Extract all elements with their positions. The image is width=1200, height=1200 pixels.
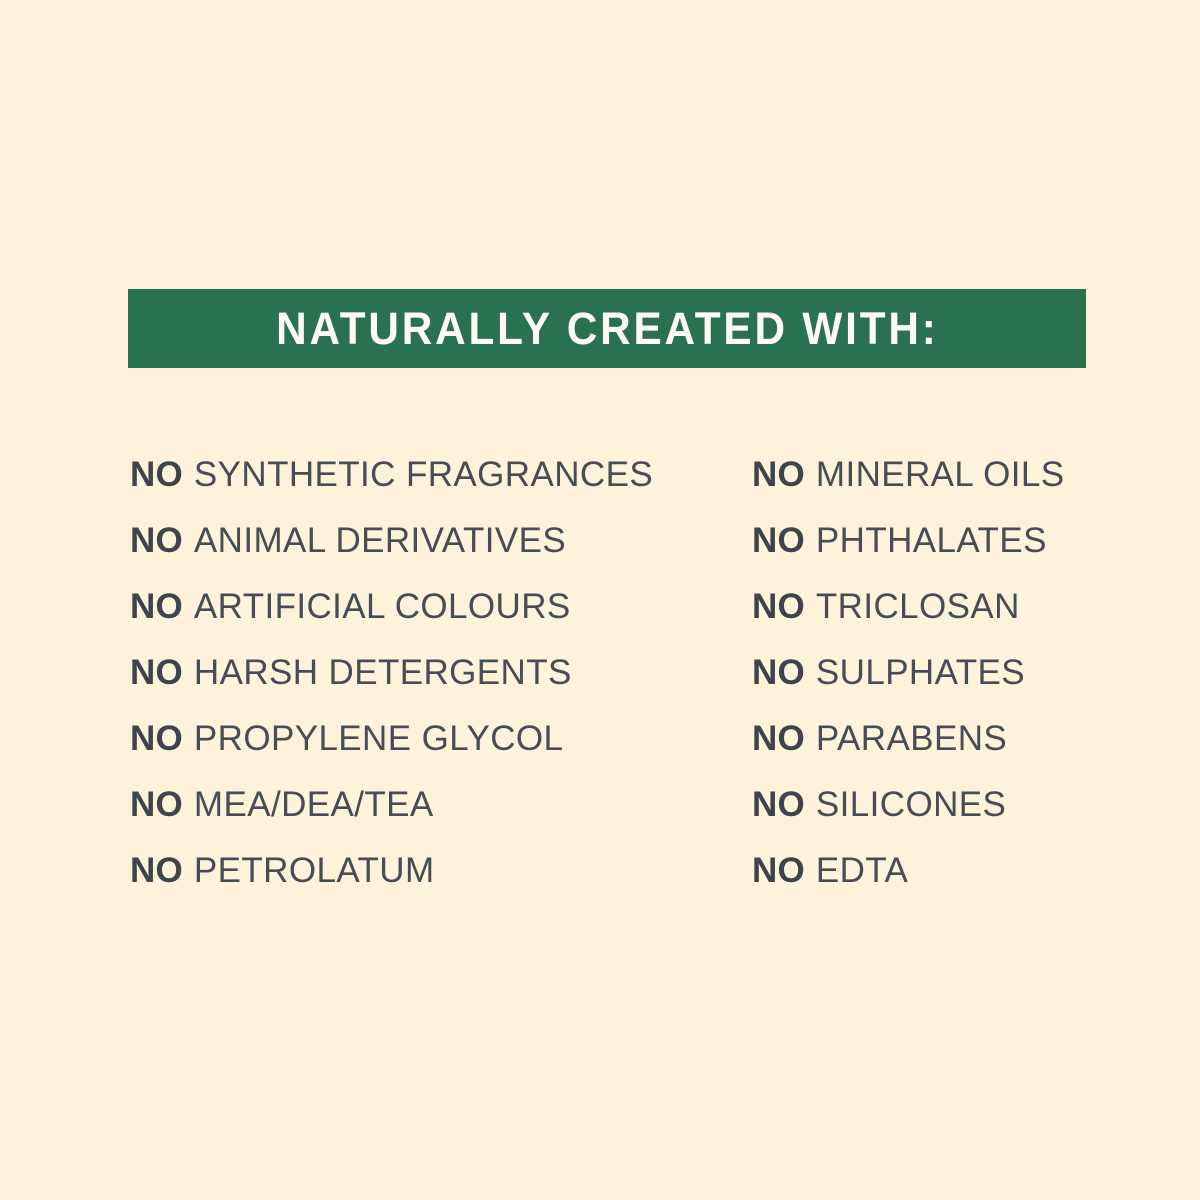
ingredient-label: SULPHATES [816, 655, 1025, 690]
no-prefix: NO [130, 787, 183, 822]
no-prefix: NO [752, 853, 805, 888]
no-prefix: NO [752, 457, 805, 492]
ingredient-label: ANIMAL DERIVATIVES [194, 523, 566, 558]
ingredient-label: EDTA [816, 853, 908, 888]
list-item: NO TRICLOSAN [752, 573, 1182, 639]
ingredient-label: ARTIFICIAL COLOURS [194, 589, 571, 624]
list-item: NO PROPYLENE GLYCOL [130, 705, 730, 771]
list-item: NO HARSH DETERGENTS [130, 639, 730, 705]
list-item: NO MINERAL OILS [752, 441, 1182, 507]
list-item: NO MEA/DEA/TEA [130, 771, 730, 837]
no-prefix: NO [752, 655, 805, 690]
ingredient-label: SYNTHETIC FRAGRANCES [194, 457, 653, 492]
poster-canvas: NATURALLY CREATED WITH: NO SYNTHETIC FRA… [0, 0, 1200, 1200]
ingredient-label: MINERAL OILS [816, 457, 1065, 492]
no-prefix: NO [130, 523, 183, 558]
ingredient-label: TRICLOSAN [816, 589, 1020, 624]
ingredient-label: SILICONES [816, 787, 1006, 822]
list-item: NO SILICONES [752, 771, 1182, 837]
ingredient-label: PETROLATUM [194, 853, 435, 888]
no-prefix: NO [130, 721, 183, 756]
no-prefix: NO [752, 787, 805, 822]
exclusion-list-left-column: NO SYNTHETIC FRAGRANCES NO ANIMAL DERIVA… [130, 441, 730, 903]
list-item: NO PHTHALATES [752, 507, 1182, 573]
exclusion-list-right-column: NO MINERAL OILS NO PHTHALATES NO TRICLOS… [752, 441, 1182, 903]
header-banner: NATURALLY CREATED WITH: [128, 289, 1086, 368]
list-item: NO SULPHATES [752, 639, 1182, 705]
list-item: NO ANIMAL DERIVATIVES [130, 507, 730, 573]
no-prefix: NO [752, 589, 805, 624]
list-item: NO EDTA [752, 837, 1182, 903]
no-prefix: NO [130, 457, 183, 492]
list-item: NO ARTIFICIAL COLOURS [130, 573, 730, 639]
list-item: NO PARABENS [752, 705, 1182, 771]
ingredient-label: PARABENS [816, 721, 1007, 756]
ingredient-label: MEA/DEA/TEA [194, 787, 434, 822]
ingredient-label: PROPYLENE GLYCOL [194, 721, 564, 756]
no-prefix: NO [130, 589, 183, 624]
page-title: NATURALLY CREATED WITH: [276, 306, 939, 351]
list-item: NO SYNTHETIC FRAGRANCES [130, 441, 730, 507]
no-prefix: NO [130, 655, 183, 690]
exclusion-list: NO SYNTHETIC FRAGRANCES NO ANIMAL DERIVA… [0, 441, 1200, 911]
ingredient-label: PHTHALATES [816, 523, 1047, 558]
no-prefix: NO [752, 721, 805, 756]
list-item: NO PETROLATUM [130, 837, 730, 903]
no-prefix: NO [752, 523, 805, 558]
no-prefix: NO [130, 853, 183, 888]
ingredient-label: HARSH DETERGENTS [194, 655, 572, 690]
